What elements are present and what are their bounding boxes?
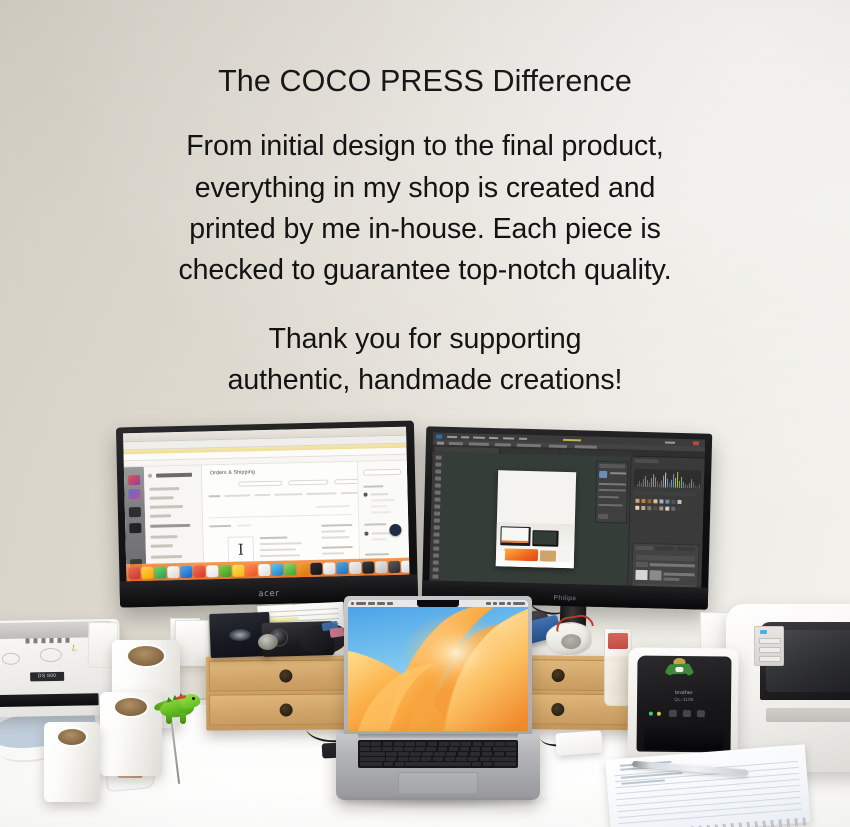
right-monitor-screen <box>429 432 705 587</box>
power-adapter <box>555 730 602 755</box>
marketing-copy-overlay: The COCO PRESS Difference From initial d… <box>0 62 850 401</box>
dock-icon-notes[interactable] <box>141 566 153 578</box>
dock-icon-terminal[interactable] <box>310 562 322 574</box>
body-line-3: printed by me in-house. Each piece is <box>0 209 850 250</box>
dock-icon-keynote[interactable] <box>297 563 309 575</box>
rail-icon-1 <box>128 475 140 485</box>
dock-icon-safari[interactable] <box>167 566 179 578</box>
right-printer-control-panel[interactable] <box>754 626 784 666</box>
photoshop-panel-dock[interactable] <box>627 457 704 588</box>
product-thumbnail: I <box>228 536 255 563</box>
histogram-panel <box>634 469 701 489</box>
brother-model-text: QL-1100 <box>674 697 693 702</box>
closing-line-2: authentic, handmade creations! <box>0 360 850 401</box>
tape-dispenser <box>539 614 607 661</box>
dock-icon-maps[interactable] <box>271 563 283 575</box>
macbook-hinge <box>358 734 518 738</box>
macbook-lid <box>344 596 532 736</box>
macbook-base-shadow <box>344 798 532 803</box>
photoshop-floating-panel[interactable] <box>595 461 629 524</box>
right-printer-output-tray <box>766 708 850 722</box>
dock-icon-pages[interactable] <box>258 563 270 575</box>
right-printer-button-1[interactable] <box>759 638 781 644</box>
orders-page-content: Orders & Shipping <box>202 462 359 563</box>
brother-button-2[interactable] <box>683 710 691 717</box>
order-summary-panel <box>357 461 409 559</box>
dock-icon-calendar[interactable] <box>245 564 257 576</box>
browser-viewport: Orders & Shipping <box>124 461 409 565</box>
notepad-page <box>605 744 811 827</box>
macbook-base <box>336 734 540 800</box>
layers-panel[interactable] <box>631 543 699 588</box>
macbook-trackpad[interactable] <box>398 772 478 794</box>
brother-button-1[interactable] <box>669 710 677 717</box>
rail-icon-4 <box>129 523 141 533</box>
keyboard-row-numbers <box>360 747 516 751</box>
dinosaur-sticker <box>666 658 692 676</box>
left-printer-output-slot <box>0 693 99 707</box>
canvas-desk-photo <box>495 522 574 568</box>
dock-icon-illustrator[interactable] <box>375 561 387 573</box>
rail-icon-3 <box>129 507 141 517</box>
brother-brand-text: brother <box>675 690 693 696</box>
thumbnail-glyph: I <box>238 541 244 559</box>
dock-icon-numbers[interactable] <box>284 563 296 575</box>
app-icon-rail <box>124 467 146 564</box>
dock-icon-finder[interactable] <box>128 567 140 579</box>
app-navigation-panel <box>144 466 204 564</box>
right-printer-status-led <box>760 630 767 634</box>
menubar-left-items <box>351 602 393 605</box>
dock-icon-music[interactable] <box>193 565 205 577</box>
spiral-notepad <box>605 744 811 827</box>
brother-button-3[interactable] <box>697 710 705 717</box>
dock-icon-trash[interactable] <box>388 560 400 572</box>
keyboard-row-space <box>360 762 516 766</box>
left-printer-model-label: DS 800 <box>30 672 64 682</box>
right-printer-button-3[interactable] <box>759 656 781 662</box>
notebook-emblem <box>229 629 251 642</box>
left-monitor-screen: Orders & Shipping <box>123 427 409 582</box>
keyboard-row-function <box>360 742 516 746</box>
brother-power-led <box>649 712 653 716</box>
dock-icon-photoshop[interactable] <box>362 561 374 573</box>
printer-sticker-script: L <box>72 644 77 653</box>
body-line-4: checked to guarantee top-notch quality. <box>0 250 850 291</box>
right-monitor: Philips <box>422 426 713 609</box>
macbook-pro <box>336 596 540 808</box>
roll-core-middle <box>113 696 149 718</box>
keyboard-row-home <box>360 757 516 761</box>
dinosaur-eye <box>192 697 195 700</box>
drawer-finger-hole-lower-right <box>551 702 564 715</box>
tape-core <box>561 634 582 650</box>
menubar-status-items <box>486 602 525 605</box>
roll-core-front <box>56 727 88 747</box>
body-line-1: From initial design to the final product… <box>0 126 850 167</box>
right-printer-button-2[interactable] <box>759 647 781 653</box>
label-roll-front <box>44 722 100 802</box>
dock-icon-facetime[interactable] <box>154 566 166 578</box>
container-red-band <box>608 633 628 649</box>
dock-icon-mail[interactable] <box>180 565 192 577</box>
brother-status-led <box>657 712 661 716</box>
rail-icon-2 <box>128 489 140 499</box>
keyboard-row-qwerty <box>360 752 516 756</box>
body-paragraph: From initial design to the final product… <box>0 126 850 291</box>
left-monitor: Orders & Shipping <box>116 421 418 608</box>
dock-icon-messages[interactable] <box>219 564 231 576</box>
dock-icon-preview[interactable] <box>336 562 348 574</box>
small-white-box <box>175 620 209 666</box>
macos-ventura-wallpaper <box>348 607 528 731</box>
closing-line-1: Thank you for supporting <box>0 319 850 360</box>
roll-core-back <box>126 644 166 668</box>
drawer-finger-hole-upper-left <box>279 669 292 682</box>
dock-icon-reminders[interactable] <box>232 564 244 576</box>
dinosaur-toy <box>152 686 204 732</box>
brother-label-printer: brother QL-1100 <box>627 647 738 764</box>
dock-icon-photos[interactable] <box>206 565 218 577</box>
drawer-finger-hole-lower-left <box>280 703 293 716</box>
acer-brand-logo: acer <box>258 589 279 599</box>
philips-brand-logo: Philips <box>553 595 576 603</box>
drawer-finger-hole-upper-right <box>552 668 565 681</box>
apple-menu-icon[interactable] <box>351 602 354 605</box>
headline: The COCO PRESS Difference <box>0 62 850 100</box>
dock-icon-downloads[interactable] <box>401 560 409 572</box>
closing-paragraph: Thank you for supporting authentic, hand… <box>0 319 850 402</box>
macbook-camera-notch <box>417 600 459 607</box>
screenshot-root: Orders & Shipping <box>0 0 850 827</box>
dock-icon-files[interactable] <box>323 562 335 574</box>
macbook-keyboard[interactable] <box>358 740 518 768</box>
page-heading: Orders & Shipping <box>210 469 255 476</box>
macbook-screen[interactable] <box>348 600 528 731</box>
dock-icon-settings[interactable] <box>349 561 361 573</box>
photoshop-canvas-image <box>495 470 575 568</box>
brother-label-output-slot <box>644 726 724 751</box>
body-line-2: everything in my shop is created and <box>0 168 850 209</box>
